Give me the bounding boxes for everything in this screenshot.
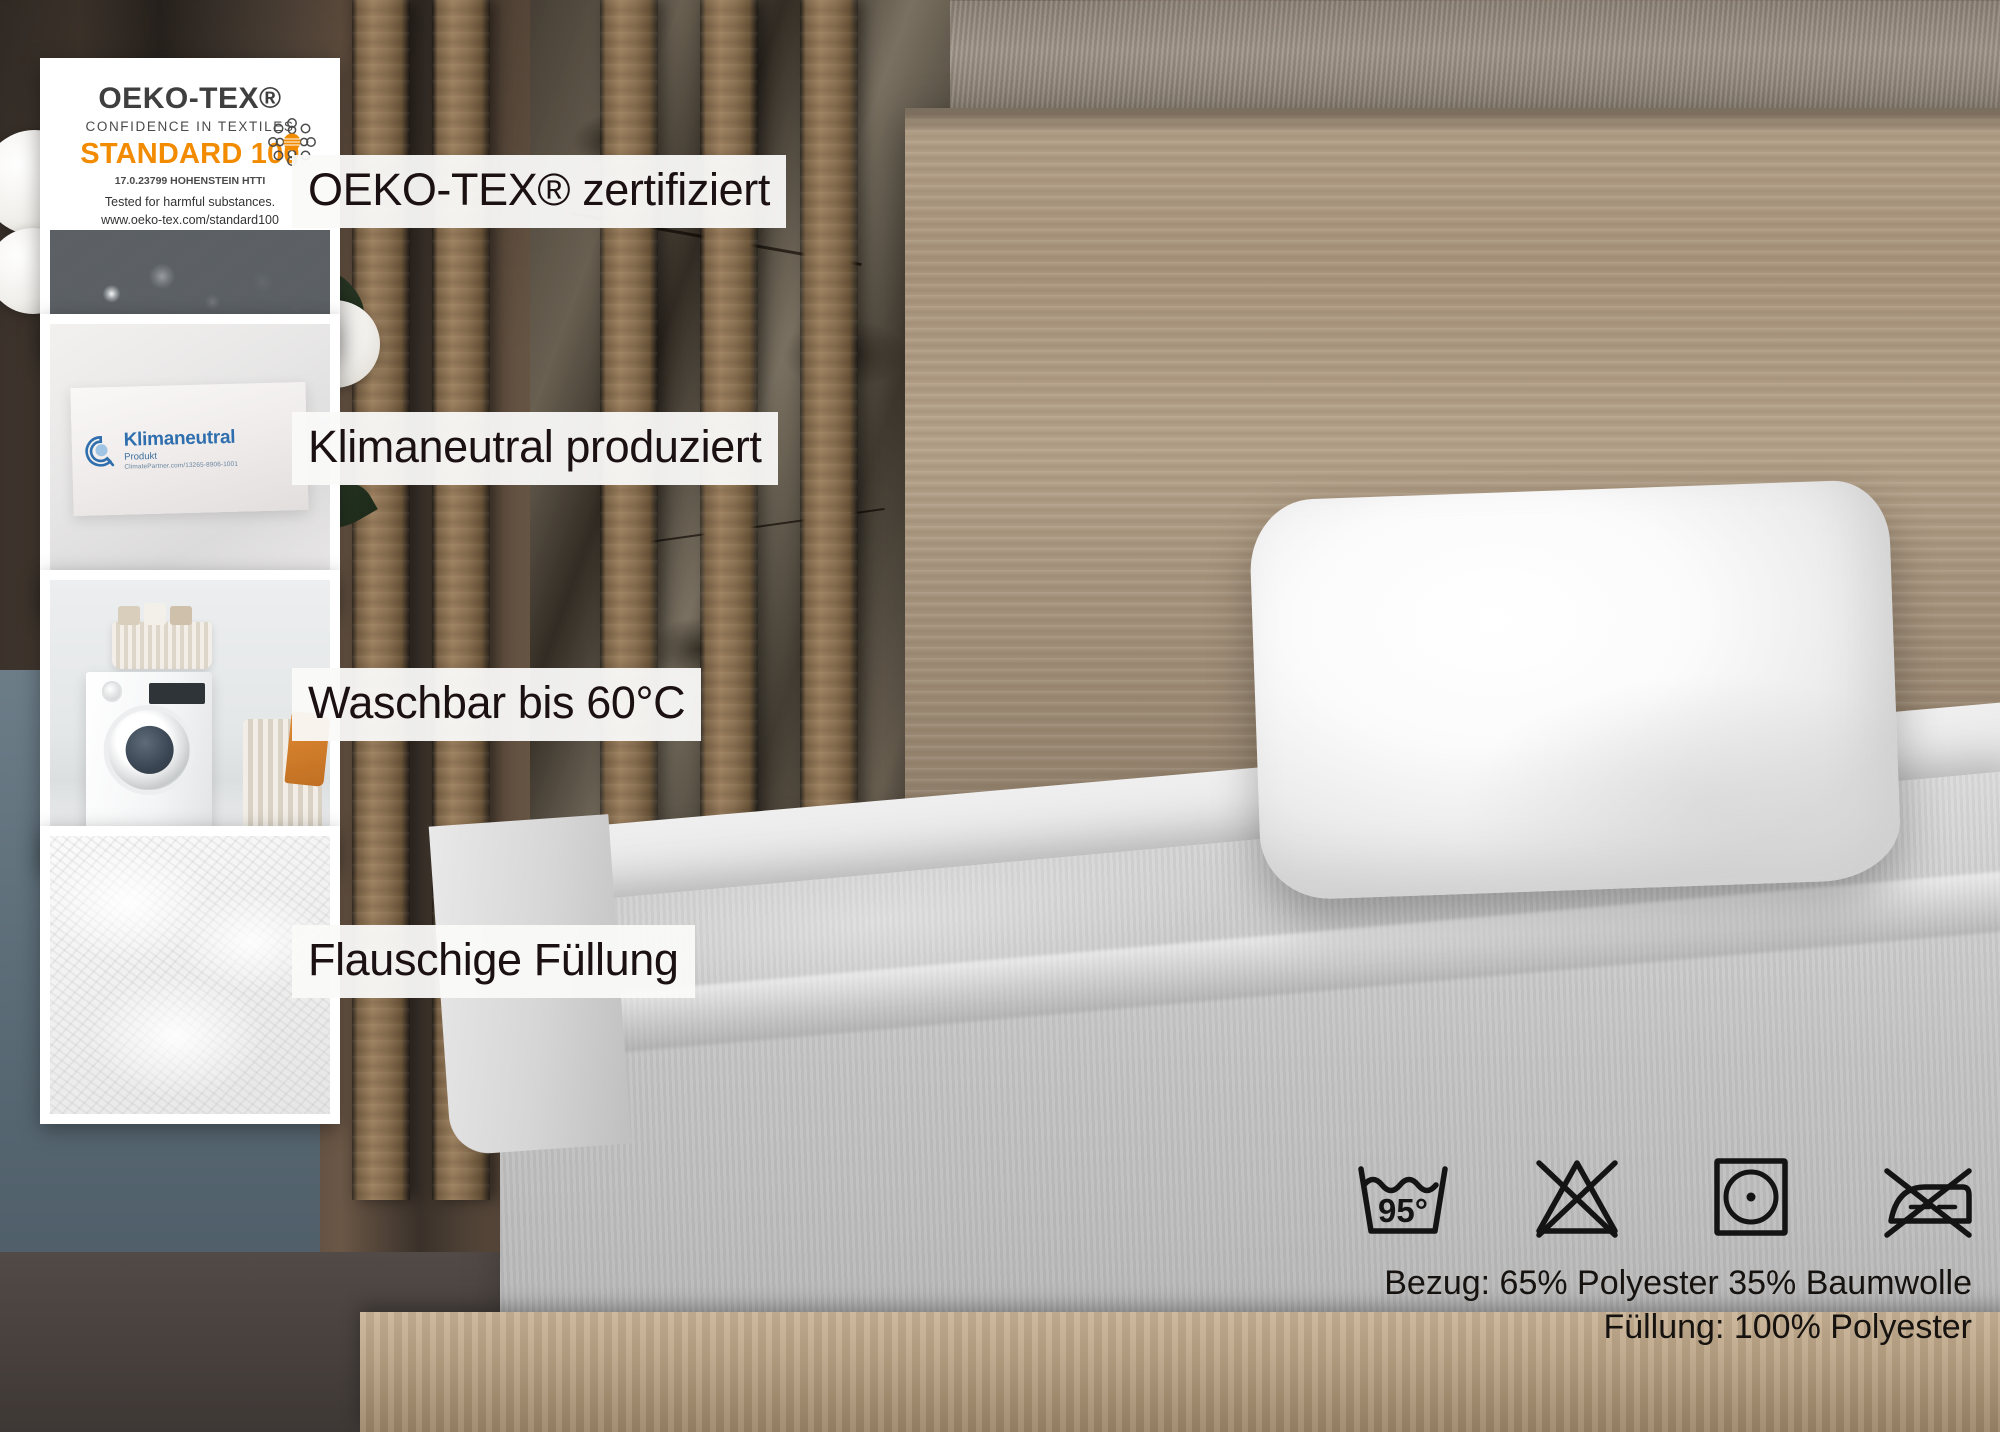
oeko-tex-tested-line1: Tested for harmful substances. [105,194,275,211]
control-knob [102,681,122,701]
oeko-tex-subtitle: CONFIDENCE IN TEXTILES [86,119,295,134]
composition-text-block: Bezug: 65% Polyester 35% Baumwolle Füllu… [1384,1262,1972,1349]
machine-door [104,705,195,796]
thumbnail-image: OEKO-TEX® CONFIDENCE IN TEXTILES STANDAR… [50,68,330,346]
product-image-canvas: OEKO-TEX® CONFIDENCE IN TEXTILES STANDAR… [0,0,2000,1432]
towel [170,606,192,626]
thumbnail-image [50,580,330,858]
feature-label-fuellung: Flauschige Füllung [292,925,695,998]
control-panel [149,683,204,704]
feature-label-oeko-tex: OEKO-TEX® zertifiziert [292,155,786,228]
pillow [1248,479,1902,901]
klimaneutral-main-text: Klimaneutral [124,428,238,450]
klimaneutral-logo: Klimaneutral Produkt ClimatePartner.com/… [84,428,239,472]
tumble-dry-low-icon [1703,1155,1799,1241]
composition-fill-line: Füllung: 100% Polyester [1384,1306,1972,1350]
oeko-tex-card: OEKO-TEX® CONFIDENCE IN TEXTILES STANDAR… [50,68,330,346]
feature-label-waschbar: Waschbar bis 60°C [292,668,701,741]
klimaneutral-paper-label: Klimaneutral Produkt ClimatePartner.com/… [71,382,309,516]
wash-temperature-value: 95° [1378,1192,1428,1229]
thumbnail-image: Klimaneutral Produkt ClimatePartner.com/… [50,324,330,602]
towel [144,603,166,626]
washing-machine [86,672,212,833]
wall-rug-texture [905,0,2000,112]
oeko-tex-title: OEKO-TEX® [98,82,281,116]
climate-partner-icon [84,434,119,469]
klimaneutral-photo: Klimaneutral Produkt ClimatePartner.com/… [50,324,330,602]
door-glass [125,726,173,774]
fiber-filling-macro-photo [50,836,330,1114]
klimaneutral-url-text: ClimatePartner.com/13265-8906-1001 [125,461,239,471]
no-bleach-icon [1529,1155,1625,1241]
care-symbols-row: 95° [1355,1155,1977,1241]
thumbnail-image [50,836,330,1114]
do-not-iron-icon [1877,1155,1977,1241]
laundry-basket-top [112,622,213,669]
towel [118,606,140,626]
oeko-tex-tested-line2: www.oeko-tex.com/standard100 [101,212,279,229]
wash-60-icon: 95° [1355,1155,1451,1241]
feature-label-klimaneutral: Klimaneutral produziert [292,412,778,485]
headboard-shadow [905,108,2000,134]
laundry-room-photo [50,580,330,858]
composition-cover-line: Bezug: 65% Polyester 35% Baumwolle [1384,1262,1972,1306]
oeko-tex-code: 17.0.23799 HOHENSTEIN HTTI [115,175,266,187]
